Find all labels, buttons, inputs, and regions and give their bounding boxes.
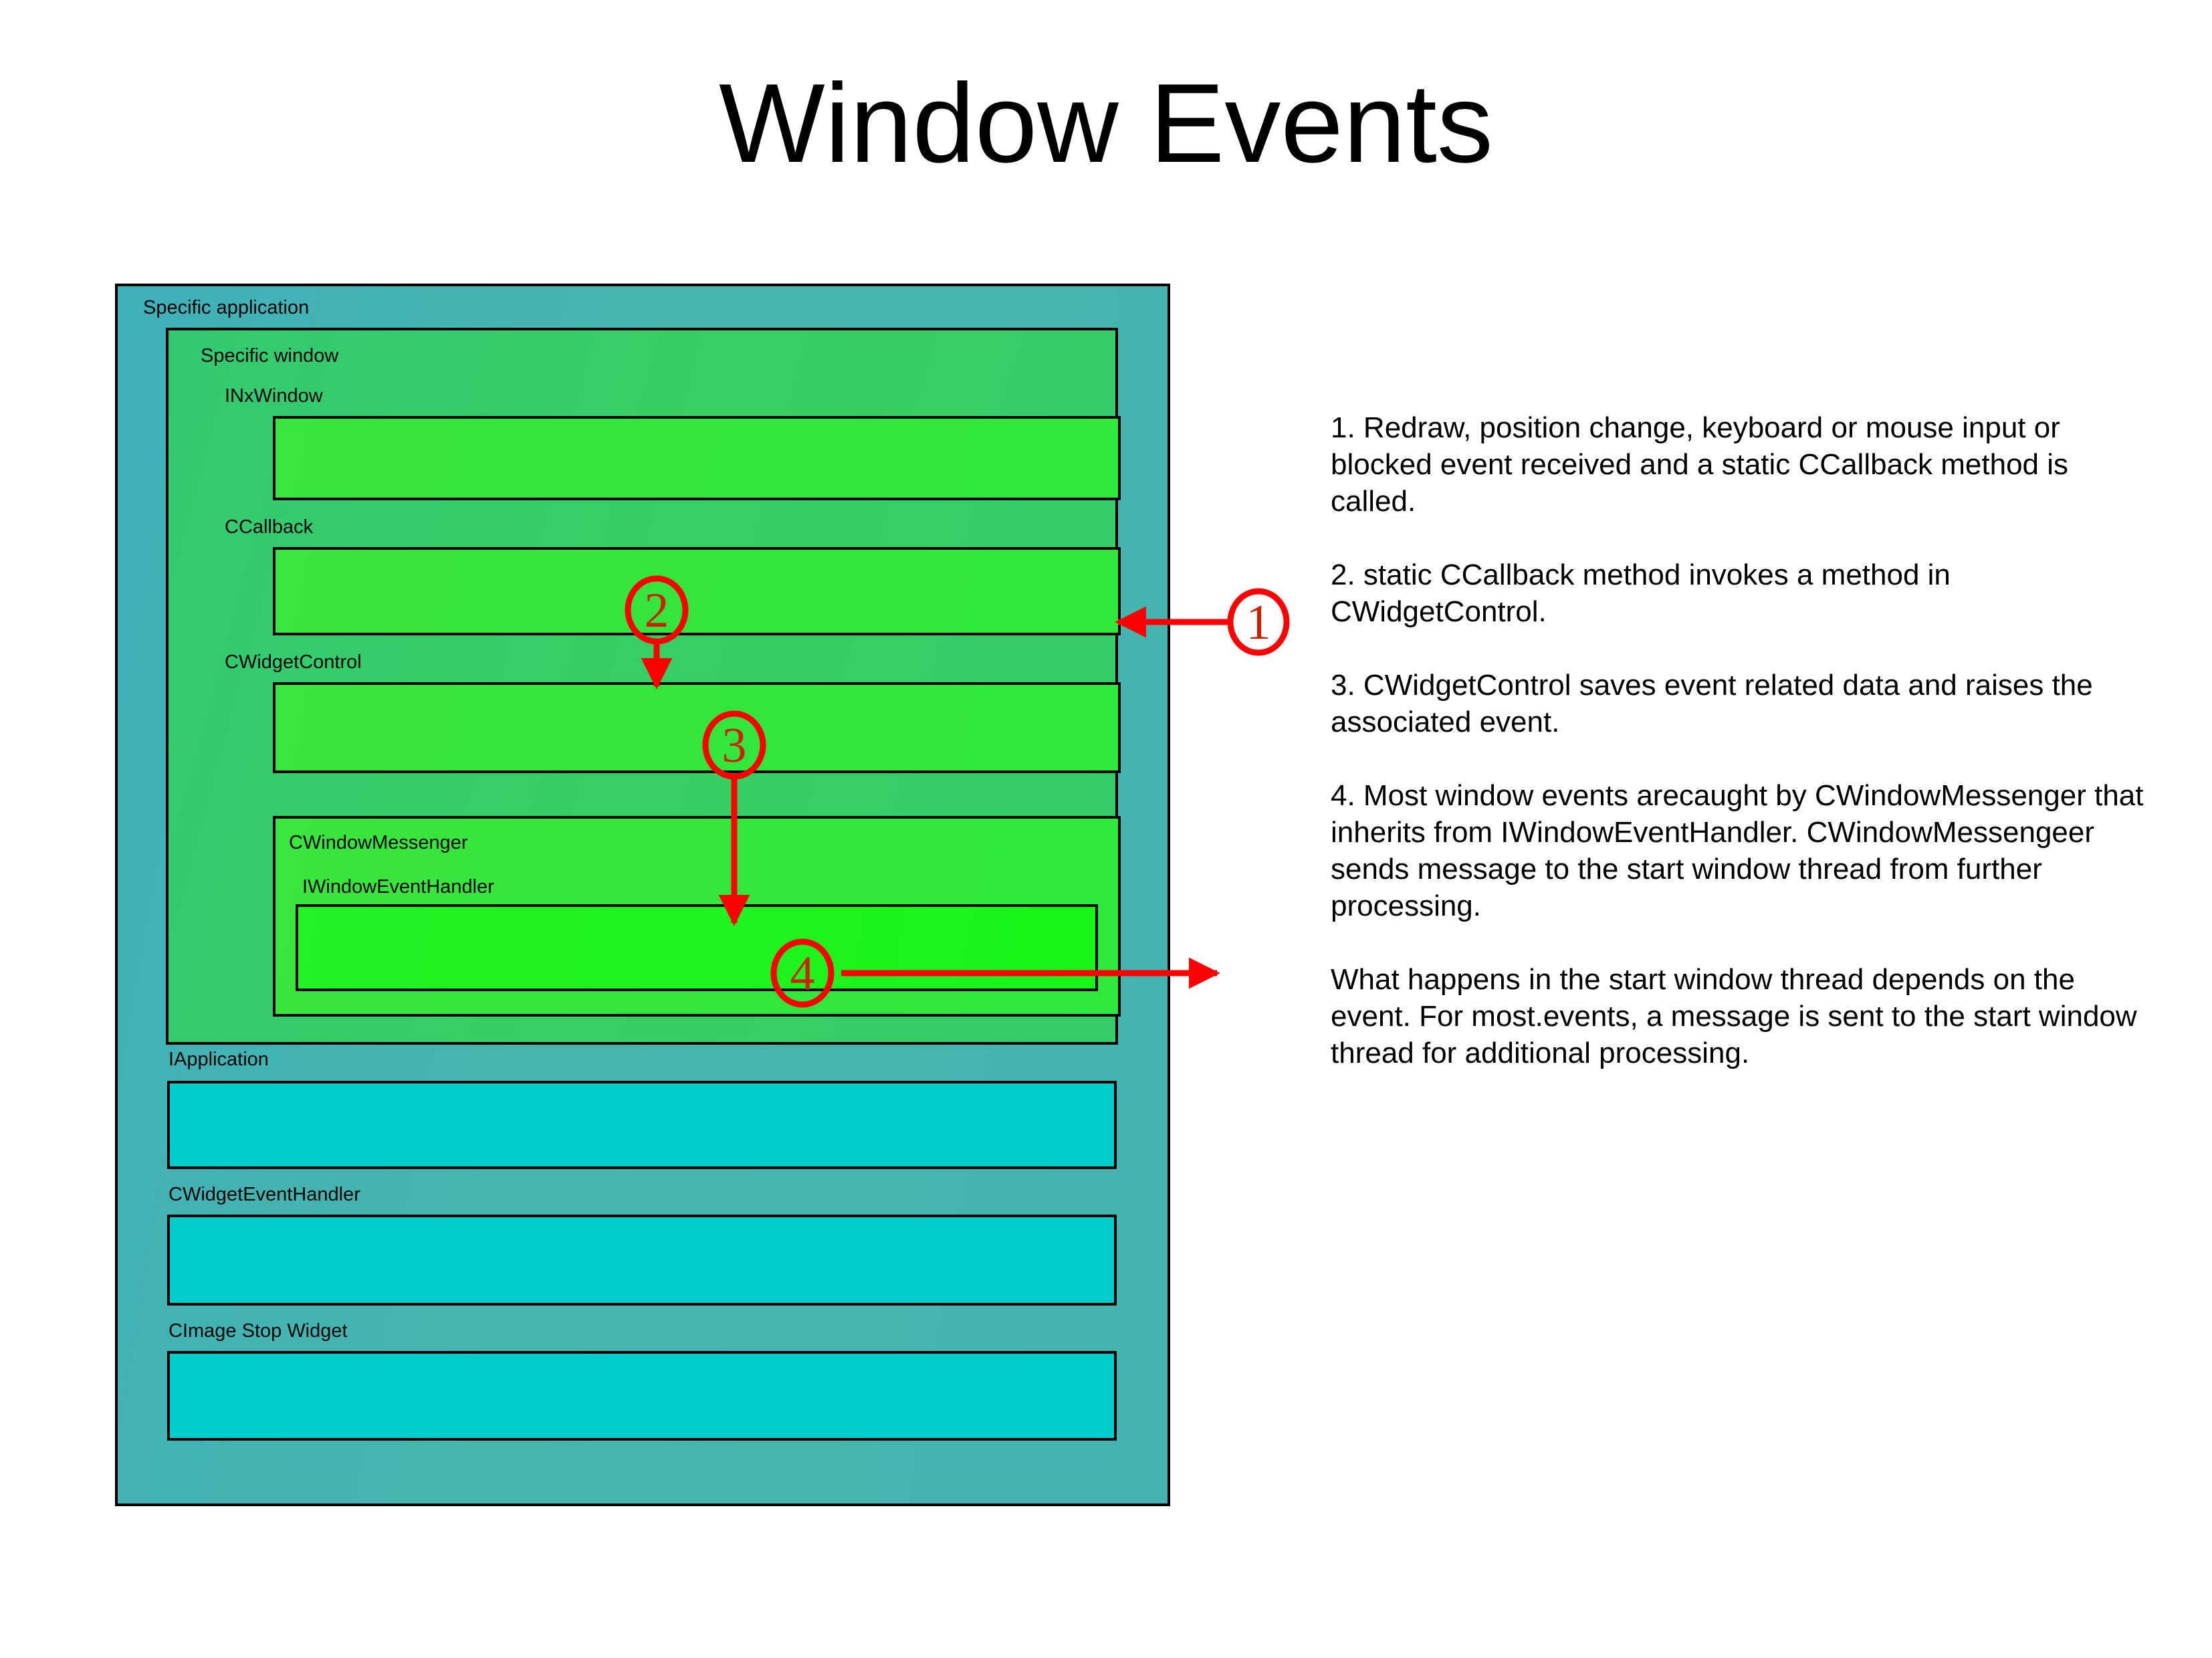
iwindoweventhandler-label: IWindowEventHandler	[302, 877, 494, 897]
specific-application-label: Specific application	[143, 298, 309, 318]
iapplication-label: IApplication	[169, 1050, 269, 1069]
iwindoweventhandler-box	[296, 904, 1098, 991]
note-paragraph-3: 3. CWidgetControl saves event related da…	[1331, 667, 2153, 740]
cimage-stop-widget-label: CImage Stop Widget	[169, 1322, 348, 1341]
cwidgeteventhandler-box	[167, 1215, 1117, 1306]
inxwindow-label: INxWindow	[225, 387, 323, 406]
cimage-stop-widget-box	[167, 1351, 1117, 1441]
note-paragraph-5: What happens in the start window thread …	[1331, 961, 2153, 1071]
iapplication-box	[167, 1081, 1117, 1169]
cwindowmessenger-label: CWindowMessenger	[289, 833, 468, 853]
note-paragraph-1: 1. Redraw, position change, keyboard or …	[1331, 409, 2153, 520]
notes-panel: 1. Redraw, position change, keyboard or …	[1331, 409, 2153, 1071]
ccallback-box	[273, 547, 1121, 635]
cwidgetcontrol-label: CWidgetControl	[225, 653, 362, 672]
note-paragraph-2: 2. static CCallback method invokes a met…	[1331, 556, 2153, 630]
page-title: Window Events	[0, 67, 2212, 179]
window-events-diagram: Specific application Specific window INx…	[115, 284, 1170, 1506]
specific-window-container: Specific window INxWindow CCallback CWid…	[166, 328, 1118, 1045]
inxwindow-box	[273, 416, 1121, 500]
cwidgetcontrol-box	[273, 682, 1121, 773]
note-paragraph-4: 4. Most window events arecaught by CWind…	[1331, 777, 2153, 924]
specific-application-container: Specific application Specific window INx…	[115, 284, 1170, 1506]
callout-number-1: 1	[1229, 598, 1288, 647]
callout-circle-1	[1230, 591, 1287, 653]
cwindowmessenger-box: CWindowMessenger IWindowEventHandler	[273, 816, 1121, 1017]
cwidgeteventhandler-label: CWidgetEventHandler	[169, 1185, 360, 1205]
ccallback-label: CCallback	[225, 518, 313, 537]
specific-window-label: Specific window	[201, 346, 338, 366]
